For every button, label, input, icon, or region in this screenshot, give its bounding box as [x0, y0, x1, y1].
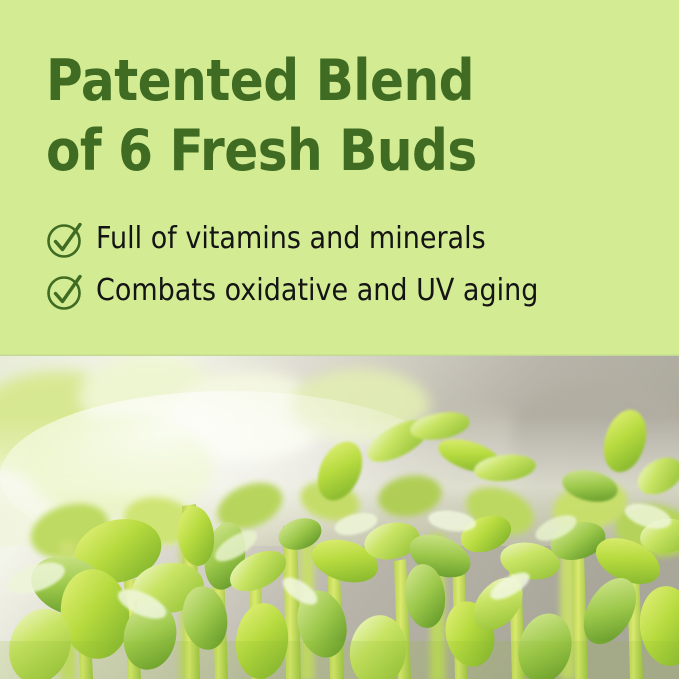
page-title: Patented Blend of 6 Fresh Buds: [46, 46, 646, 186]
headline-line-1: Patented Blend: [46, 46, 574, 116]
benefit-label: Full of vitamins and minerals: [96, 222, 486, 256]
check-circle-icon: [44, 218, 86, 260]
check-circle-icon: [44, 270, 86, 312]
product-infographic: Patented Blend of 6 Fresh Buds Full of v…: [0, 0, 679, 679]
info-panel: Patented Blend of 6 Fresh Buds Full of v…: [0, 0, 679, 356]
benefit-label: Combats oxidative and UV aging: [96, 274, 538, 308]
list-item: Full of vitamins and minerals: [44, 215, 664, 263]
headline-line-2: of 6 Fresh Buds: [46, 116, 574, 186]
benefit-list: Full of vitamins and minerals Combats ox…: [44, 215, 664, 319]
sprouts-photo: [0, 356, 679, 679]
list-item: Combats oxidative and UV aging: [44, 267, 664, 315]
